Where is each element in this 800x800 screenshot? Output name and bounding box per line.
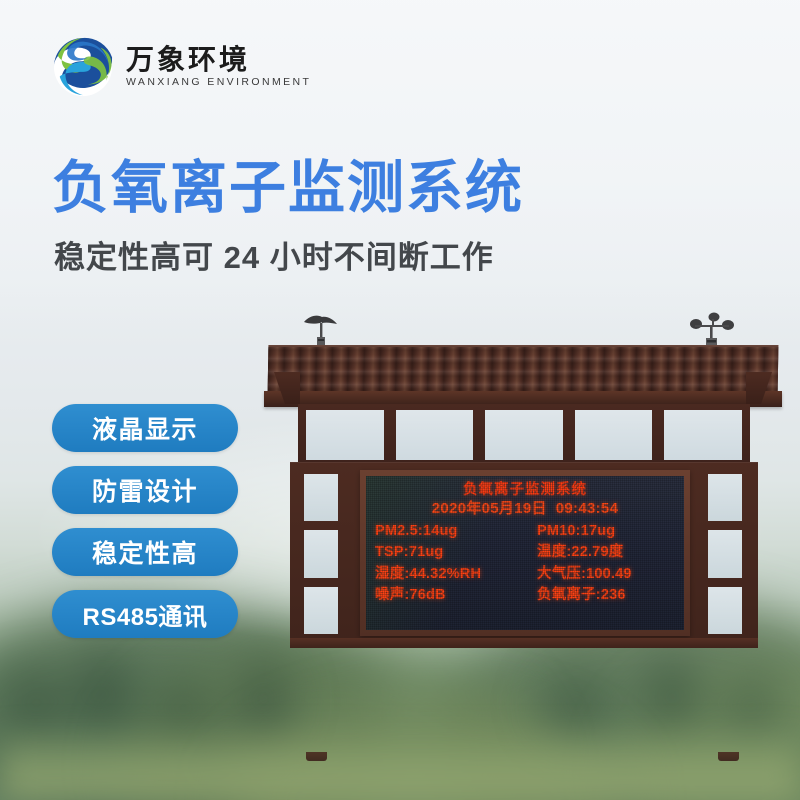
- side-window-pane: [304, 474, 338, 521]
- led-reading-noise: 噪声:76dB: [375, 586, 523, 606]
- led-display-screen: 负氧离子监测系统 2020年05月19日 09:43:54 PM2.5:14ug…: [366, 476, 684, 630]
- led-title: 负氧离子监测系统: [375, 483, 675, 499]
- kiosk-bottom-rail: [290, 638, 758, 648]
- led-reading-pm10: PM10:17ug: [527, 522, 675, 542]
- feature-badge: 稳定性高: [52, 528, 238, 576]
- kiosk-leg-right: [720, 642, 737, 760]
- window-pane: [396, 410, 474, 460]
- globe-swirl-icon: [52, 36, 114, 98]
- led-reading-temp: 温度:22.79度: [527, 543, 675, 563]
- feature-badge-list: 液晶显示 防雷设计 稳定性高 RS485通讯: [52, 404, 238, 638]
- kiosk-roof: [268, 345, 778, 411]
- led-reading-humid: 湿度:44.32%RH: [375, 565, 523, 585]
- louver-vent-panel: [306, 410, 384, 460]
- feature-badge: 防雷设计: [52, 466, 238, 514]
- brand-logo: 万象环境 WANXIANG ENVIRONMENT: [52, 36, 311, 98]
- window-pane: [575, 410, 653, 460]
- side-window-pane: [708, 474, 742, 521]
- side-window-group-left: [304, 474, 338, 634]
- kiosk-leg-left: [308, 642, 325, 760]
- feature-badge: RS485通讯: [52, 590, 238, 638]
- led-readings-grid: PM2.5:14ug PM10:17ug TSP:71ug 温度:22.79度 …: [375, 522, 675, 606]
- kiosk-upper-panes: [306, 410, 742, 460]
- side-window-pane: [304, 587, 338, 634]
- led-reading-anion: 负氧离子:236: [527, 586, 675, 606]
- led-reading-pm25: PM2.5:14ug: [375, 522, 523, 542]
- side-window-pane: [708, 587, 742, 634]
- led-reading-press: 大气压:100.49: [527, 565, 675, 585]
- led-time: 09:43:54: [556, 500, 618, 517]
- monitoring-kiosk: 负氧离子监测系统 2020年05月19日 09:43:54 PM2.5:14ug…: [268, 312, 778, 762]
- window-pane: [485, 410, 563, 460]
- roof-tiles: [268, 345, 779, 395]
- brand-text: 万象环境 WANXIANG ENVIRONMENT: [126, 46, 311, 88]
- led-datetime: 2020年05月19日 09:43:54: [375, 500, 675, 519]
- louver-vent-panel: [664, 410, 742, 460]
- page-title: 负氧离子监测系统: [52, 158, 524, 220]
- page-subtitle: 稳定性高可 24 小时不间断工作: [54, 240, 494, 276]
- side-window-pane: [708, 530, 742, 577]
- kiosk-foot-left: [306, 752, 327, 761]
- led-display-bezel: 负氧离子监测系统 2020年05月19日 09:43:54 PM2.5:14ug…: [360, 470, 690, 636]
- brand-name-en: WANXIANG ENVIRONMENT: [126, 77, 311, 88]
- kiosk-foot-right: [718, 752, 739, 761]
- side-window-group-right: [708, 474, 742, 634]
- brand-name-cn: 万象环境: [126, 46, 311, 74]
- product-poster: 万象环境 WANXIANG ENVIRONMENT 负氧离子监测系统 稳定性高可…: [0, 0, 800, 800]
- side-window-pane: [304, 530, 338, 577]
- led-reading-tsp: TSP:71ug: [375, 543, 523, 563]
- led-date: 2020年05月19日: [432, 500, 547, 517]
- feature-badge: 液晶显示: [52, 404, 238, 452]
